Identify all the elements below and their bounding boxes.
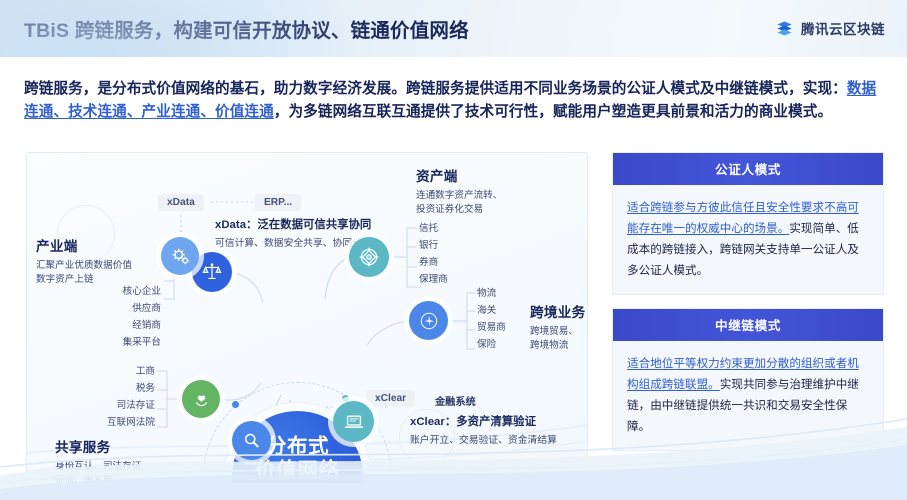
section-asset: 资产端 连通数字资产流转、 投资证券化交易 — [416, 165, 566, 216]
list-item: 贸易商 — [477, 319, 506, 336]
slide-root: TBiS 跨链服务，构建可信开放协议、链通价值网络 腾讯云区块链 跨链服务，是分… — [0, 0, 907, 500]
section-asset-desc: 连通数字资产流转、 投资证券化交易 — [416, 189, 566, 216]
laptop-icon — [343, 411, 365, 433]
asset-leaf-list: 信托 银行 券商 保理商 — [419, 220, 448, 288]
section-asset-desc-line2: 投资证券化交易 — [416, 203, 566, 217]
laptop-node[interactable] — [333, 401, 374, 442]
section-cross-border: 跨境业务 跨境贸易、 跨境物流 — [530, 301, 588, 352]
chip-finance-system[interactable]: 金融系统 — [426, 390, 485, 411]
list-item: 工商 — [33, 363, 155, 380]
section-industry-desc-line1: 汇聚产业优质数据价值 — [36, 259, 161, 273]
brand-label: 腾讯云区块链 — [801, 18, 885, 38]
xclear-callout-title: xClear：多资产清算验证 — [410, 413, 536, 429]
section-industry-title: 产业端 — [36, 235, 161, 255]
list-item: 银行 — [419, 237, 448, 254]
shared-leaf-list: 工商 税务 司法存证 互联网法院 — [33, 363, 155, 431]
section-industry: 产业端 汇聚产业优质数据价值 数字资产上链 — [36, 235, 161, 286]
shared-node-hand-heart-icon[interactable] — [182, 380, 220, 418]
gears-icon — [170, 246, 191, 267]
core-title-line2: 价值网络 — [255, 459, 339, 483]
section-cross-border-title: 跨境业务 — [530, 301, 588, 321]
section-shared: 共享服务 身份互认、司法存证 征信、黑名单 — [55, 436, 205, 484]
diamond-target-icon — [357, 245, 381, 269]
asset-node-diamond-target-icon[interactable] — [349, 237, 389, 277]
section-cross-border-desc-line1: 跨境贸易、 — [530, 325, 588, 339]
list-item: 保理商 — [419, 271, 448, 288]
section-asset-desc-line1: 连通数字资产流转、 — [416, 189, 566, 203]
layers-icon — [775, 19, 794, 38]
airplane-icon — [418, 310, 440, 332]
list-item: 海关 — [477, 302, 506, 319]
list-item: 核心企业 — [33, 283, 161, 300]
section-industry-desc: 汇聚产业优质数据价值 数字资产上链 — [36, 259, 161, 286]
chip-erp[interactable]: ERP... — [255, 194, 301, 211]
card-relay-body: 适合地位平等权力约束更加分散的组织或者机构组成跨链联盟。实现共同参与治理维护中继… — [613, 341, 883, 450]
card-notary-body: 适合跨链参与方彼此信任且安全性要求不高可能存在唯一的权威中心的场景。实现简单、低… — [613, 185, 883, 294]
list-item: 司法存证 — [33, 397, 155, 414]
core-title-line1: 分布式 — [266, 435, 329, 459]
list-item: 税务 — [33, 380, 155, 397]
card-relay-title: 中继链模式 — [613, 309, 883, 341]
slide-header: TBiS 跨链服务，构建可信开放协议、链通价值网络 腾讯云区块链 — [0, 0, 907, 57]
list-item: 经销商 — [33, 317, 161, 334]
list-item: 保险 — [477, 336, 506, 353]
hand-heart-icon — [191, 389, 212, 410]
gears-node[interactable] — [161, 237, 199, 275]
layers-icon-svg — [775, 19, 794, 38]
section-cross-border-desc-line2: 跨境物流 — [530, 339, 588, 353]
industry-leaf-list: 核心企业 供应商 经销商 集采平台 — [33, 283, 161, 351]
list-item: 互联网法院 — [33, 414, 155, 431]
cross-border-leaf-list: 物流 海关 贸易商 保险 — [477, 285, 506, 353]
section-cross-border-desc: 跨境贸易、 跨境物流 — [530, 325, 588, 352]
xdata-callout-title: xData：泛在数据可信共享协同 — [215, 216, 371, 232]
magnifier-node[interactable] — [232, 421, 271, 460]
orbit-dot-top-left — [232, 401, 239, 408]
section-shared-title: 共享服务 — [55, 436, 205, 456]
xdata-callout-sub: 可信计算、数据安全共享、协同计算 — [215, 235, 372, 249]
magnifier-icon — [241, 430, 262, 451]
page-title: TBiS 跨链服务，构建可信开放协议、链通价值网络 — [24, 14, 469, 43]
cross-border-node-airplane-icon[interactable] — [409, 301, 448, 340]
scales-icon — [201, 261, 223, 283]
chip-xclear[interactable]: xClear — [366, 390, 415, 407]
list-item: 券商 — [419, 254, 448, 271]
xclear-callout-sub: 账户开立、交易验证、资金清结算 — [410, 432, 557, 446]
list-item: 集采平台 — [33, 334, 161, 351]
section-asset-title: 资产端 — [416, 165, 566, 185]
intro-paragraph: 跨链服务，是分布式价值网络的基石，助力数字经济发展。跨链服务提供适用不同业务场景… — [24, 78, 882, 123]
list-item: 物流 — [477, 285, 506, 302]
brand: 腾讯云区块链 — [775, 18, 885, 38]
card-notary-mode: 公证人模式 适合跨链参与方彼此信任且安全性要求不高可能存在唯一的权威中心的场景。… — [612, 152, 884, 295]
list-item: 信托 — [419, 220, 448, 237]
card-notary-title: 公证人模式 — [613, 153, 883, 185]
section-shared-desc-line1: 身份互认、司法存证 — [55, 460, 205, 474]
intro-text-part1: 跨链服务，是分布式价值网络的基石，助力数字经济发展。跨链服务提供适用不同业务场景… — [24, 81, 847, 97]
intro-text-part2: ，为多链网络互联互通提供了技术可行性，赋能用户塑造更具前景和活力的商业模式。 — [274, 104, 832, 120]
section-shared-desc-line2: 征信、黑名单 — [55, 474, 205, 485]
architecture-diagram: 分布式 价值网络 可信开放的 跨链协议 xData ERP... xData：泛… — [26, 152, 588, 484]
card-relay-mode: 中继链模式 适合地位平等权力约束更加分散的组织或者机构组成跨链联盟。实现共同参与… — [612, 308, 884, 451]
list-item: 供应商 — [33, 300, 161, 317]
chip-xdata[interactable]: xData — [158, 194, 204, 211]
section-shared-desc: 身份互认、司法存证 征信、黑名单 — [55, 460, 205, 484]
